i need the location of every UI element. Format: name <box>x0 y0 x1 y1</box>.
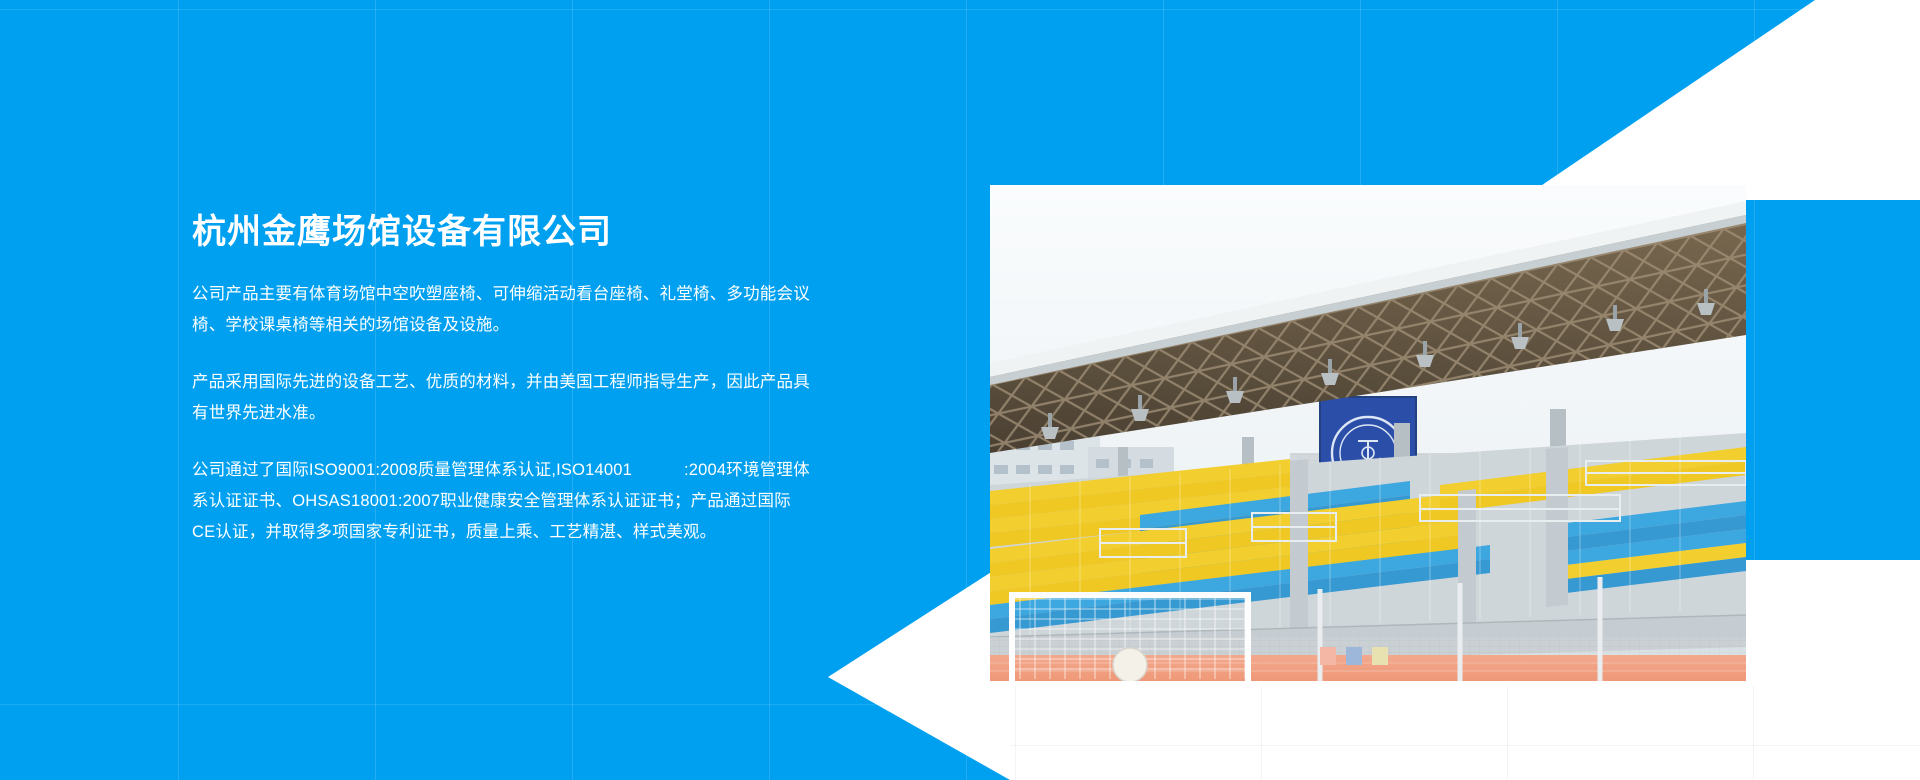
product-overview-paragraph: 公司产品主要有体育场馆中空吹塑座椅、可伸缩活动看台座椅、礼堂椅、多功能会议椅、学… <box>192 279 812 341</box>
company-name-heading: 杭州金鹰场馆设备有限公司 <box>192 212 812 253</box>
certifications-text-part1: 公司通过了国际ISO9001:2008质量管理体系认证,ISO14001 <box>192 461 632 479</box>
wall-signage <box>1320 647 1388 665</box>
stadium-photo <box>990 185 1746 681</box>
company-intro-block: 杭州金鹰场馆设备有限公司 公司产品主要有体育场馆中空吹塑座椅、可伸缩活动看台座椅… <box>192 212 812 548</box>
stadium-photo-illustration <box>990 185 1746 681</box>
manufacturing-quality-paragraph: 产品采用国际先进的设备工艺、优质的材料，并由美国工程师指导生产，因此产品具有世界… <box>192 367 812 429</box>
certifications-paragraph: 公司通过了国际ISO9001:2008质量管理体系认证,ISO14001:200… <box>192 455 812 548</box>
hero-banner: 杭州金鹰场馆设备有限公司 公司产品主要有体育场馆中空吹塑座椅、可伸缩活动看台座椅… <box>0 0 1920 780</box>
